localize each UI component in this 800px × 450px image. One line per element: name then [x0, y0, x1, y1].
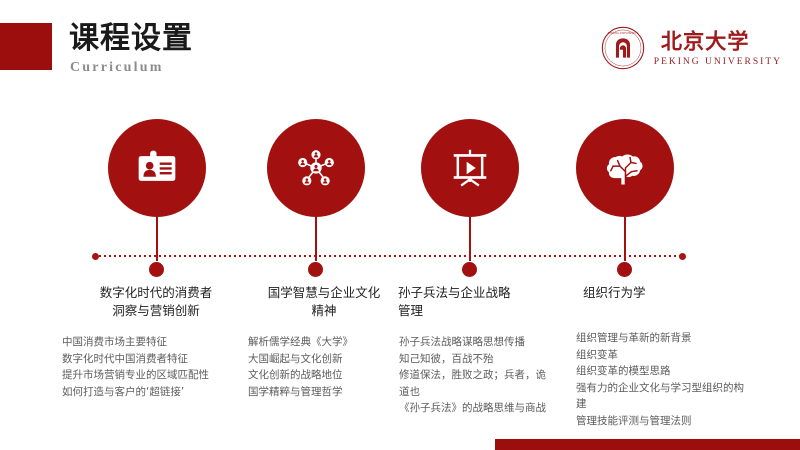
- list-item: 解析儒学经典《大学》: [248, 334, 418, 351]
- presentation-play-icon: [447, 145, 493, 191]
- column-2-title: 国学智慧与企业文化 精神: [234, 284, 414, 320]
- list-item: 组织管理与革新的新背景: [576, 330, 744, 347]
- svg-text:北京大学: 北京大学: [661, 29, 750, 53]
- list-item: 修道保法，胜败之政；兵者，诡道也: [399, 367, 549, 400]
- list-item: 组织变革: [576, 347, 744, 364]
- page-subtitle: Curriculum: [70, 60, 164, 76]
- university-logo: PEKING UNIVERSITY 北京大学 PEKING UNIVERSITY: [601, 24, 782, 72]
- list-item: 管理技能评测与管理法则: [576, 413, 744, 430]
- list-item: 如何打造与客户的‘超链接’: [62, 384, 252, 401]
- timeline-start-dot: [92, 253, 99, 260]
- column-4-title: 组织行为学: [551, 284, 741, 302]
- list-item: 中国消费市场主要特征: [62, 334, 252, 351]
- column-3-stem: [469, 217, 471, 261]
- id-badge-icon: [135, 146, 179, 190]
- logo-english-name: PEKING UNIVERSITY: [654, 57, 782, 67]
- list-item: 提升市场营销专业的区域匹配性: [62, 367, 252, 384]
- list-item: 《孙子兵法》的战略思维与商战: [399, 400, 549, 417]
- brain-icon: [603, 146, 647, 190]
- timeline-line: [94, 255, 684, 257]
- list-item: 数字化时代中国消费者特征: [62, 351, 252, 368]
- column-1-title: 数字化时代的消费者 洞察与营销创新: [56, 284, 256, 320]
- column-1-icon-circle: [108, 119, 206, 217]
- logo-chinese-name: 北京大学: [654, 29, 782, 53]
- column-2-body: 解析儒学经典《大学》 大国崛起与文化创新 文化创新的战略地位 国学精粹与管理哲学: [248, 334, 418, 400]
- page-title: 课程设置: [69, 22, 193, 56]
- column-4-body: 组织管理与革新的新背景 组织变革 组织变革的模型思路 强有力的企业文化与学习型组…: [576, 330, 744, 429]
- column-2-node: [308, 262, 323, 277]
- list-item: 大国崛起与文化创新: [248, 351, 418, 368]
- column-1-body: 中国消费市场主要特征 数字化时代中国消费者特征 提升市场营销专业的区域匹配性 如…: [62, 334, 252, 400]
- footer-accent-bar: [495, 439, 800, 450]
- column-1-node: [149, 262, 164, 277]
- column-3-icon-circle: [421, 119, 519, 217]
- column-1-stem: [156, 217, 158, 261]
- svg-text:PEKING UNIVERSITY: PEKING UNIVERSITY: [608, 31, 639, 35]
- network-people-icon: [294, 146, 338, 190]
- column-4-node: [617, 262, 632, 277]
- column-4-icon-circle: [576, 119, 674, 217]
- column-4-stem: [624, 217, 626, 261]
- list-item: 知己知彼，百战不殆: [399, 351, 549, 368]
- list-item: 文化创新的战略地位: [248, 367, 418, 384]
- header-accent-block: [0, 23, 52, 70]
- column-2-stem: [315, 217, 317, 261]
- slide-root: 课程设置 Curriculum PEKING UNIVERSITY 北京大学 P…: [0, 0, 800, 450]
- timeline-end-dot: [679, 253, 686, 260]
- list-item: 孙子兵法战略谋略思想传播: [399, 334, 549, 351]
- list-item: 组织变革的模型思路: [576, 363, 744, 380]
- column-3-body: 孙子兵法战略谋略思想传播 知己知彼，百战不殆 修道保法，胜败之政；兵者，诡道也 …: [399, 334, 549, 417]
- column-3-node: [462, 262, 477, 277]
- column-2-icon-circle: [267, 119, 365, 217]
- list-item: 强有力的企业文化与学习型组织的构建: [576, 380, 744, 413]
- list-item: 国学精粹与管理哲学: [248, 384, 418, 401]
- peking-university-seal-icon: PEKING UNIVERSITY: [601, 26, 645, 70]
